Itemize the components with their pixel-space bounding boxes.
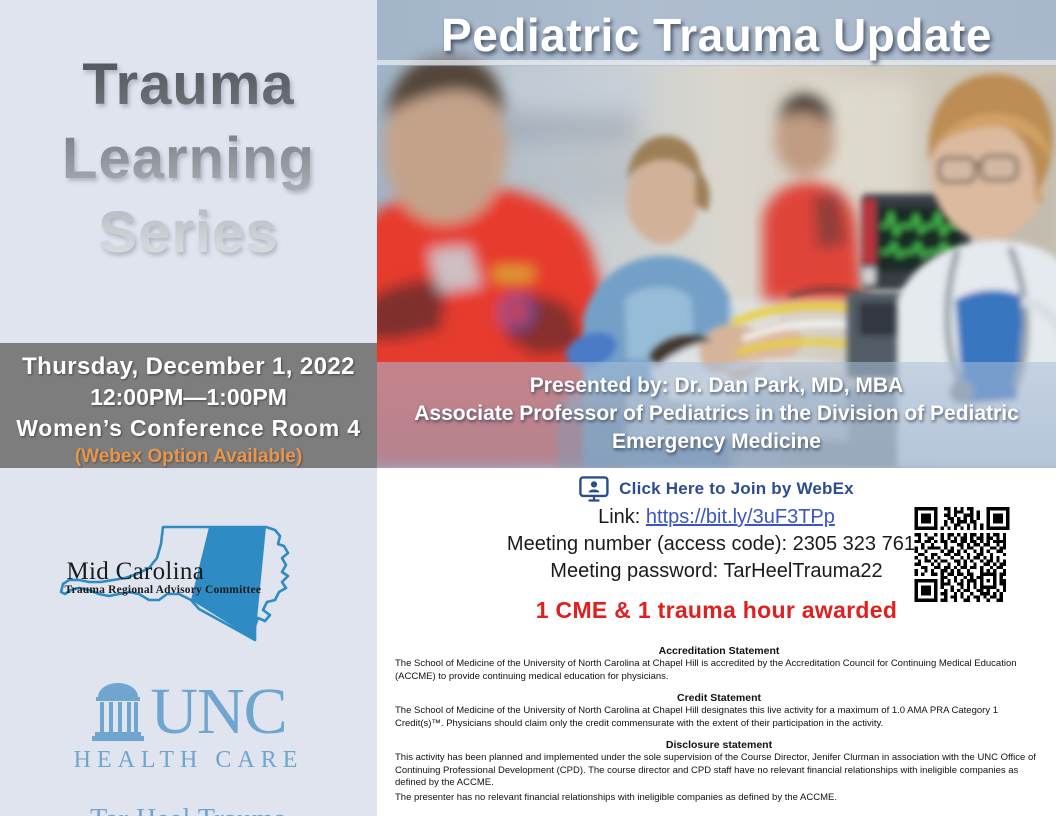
series-title: Trauma Learning Series	[0, 48, 377, 270]
unc-subtitle: HEALTH CARE	[39, 747, 339, 774]
mcra-tagline: Trauma Regional Advisory Committee	[65, 584, 262, 596]
event-time: 12:00PM—1:00PM	[0, 382, 377, 413]
event-date: Thursday, December 1, 2022	[0, 352, 377, 382]
event-webex-note: (Webex Option Available)	[0, 444, 377, 469]
join-webex-link[interactable]: Click Here to Join by WebEx	[377, 476, 1056, 502]
presenter-title-line-1: Associate Professor of Pediatrics in the…	[377, 400, 1056, 428]
series-title-line-3: Series	[0, 196, 377, 270]
old-well-icon	[90, 680, 146, 744]
presenter-block: Presented by: Dr. Dan Park, MD, MBA Asso…	[377, 362, 1056, 468]
hero-photo-area: Pediatric Trauma Update Presented by: Dr…	[377, 0, 1056, 468]
presenter-title-line-2: Emergency Medicine	[377, 428, 1056, 456]
hero-title: Pediatric Trauma Update	[377, 8, 1056, 62]
credit-heading: Credit Statement	[395, 692, 1043, 704]
statements-block: Accreditation Statement The School of Me…	[395, 645, 1043, 813]
disclosure-body-2: The presenter has no relevant financial …	[395, 792, 1043, 805]
event-details-band: Thursday, December 1, 2022 12:00PM—1:00P…	[0, 343, 377, 468]
join-meeting-icon	[579, 476, 609, 502]
presenter-name: Presented by: Dr. Dan Park, MD, MBA	[377, 372, 1056, 400]
series-title-line-2: Learning	[0, 122, 377, 196]
series-title-line-1: Trauma	[0, 48, 377, 122]
join-webex-label: Click Here to Join by WebEx	[619, 479, 854, 499]
qr-code[interactable]	[908, 507, 1016, 602]
mcra-name: Mid Carolina	[67, 558, 205, 586]
right-panel: Pediatric Trauma Update Presented by: Dr…	[377, 0, 1056, 816]
unc-wordmark: UNC	[150, 679, 286, 745]
logo-stack: Mid Carolina Trauma Regional Advisory Co…	[0, 500, 377, 816]
accreditation-heading: Accreditation Statement	[395, 645, 1043, 657]
tar-heel-trauma-label: Tar Heel Trauma	[0, 804, 377, 816]
event-location: Women’s Conference Room 4	[0, 413, 377, 444]
link-prefix-label: Link:	[598, 506, 646, 528]
unc-health-care-logo: UNC HEALTH CARE	[39, 679, 339, 774]
disclosure-heading: Disclosure statement	[395, 739, 1043, 751]
mid-carolina-trac-logo: Mid Carolina Trauma Regional Advisory Co…	[39, 522, 339, 657]
flyer-page: Trauma Learning Series Thursday, Decembe…	[0, 0, 1056, 816]
accreditation-body: The School of Medicine of the University…	[395, 658, 1043, 683]
disclosure-body: This activity has been planned and imple…	[395, 752, 1043, 790]
credit-body: The School of Medicine of the University…	[395, 705, 1043, 730]
webex-url-link[interactable]: https://bit.ly/3uF3TPp	[646, 506, 835, 528]
left-panel: Trauma Learning Series Thursday, Decembe…	[0, 0, 377, 816]
